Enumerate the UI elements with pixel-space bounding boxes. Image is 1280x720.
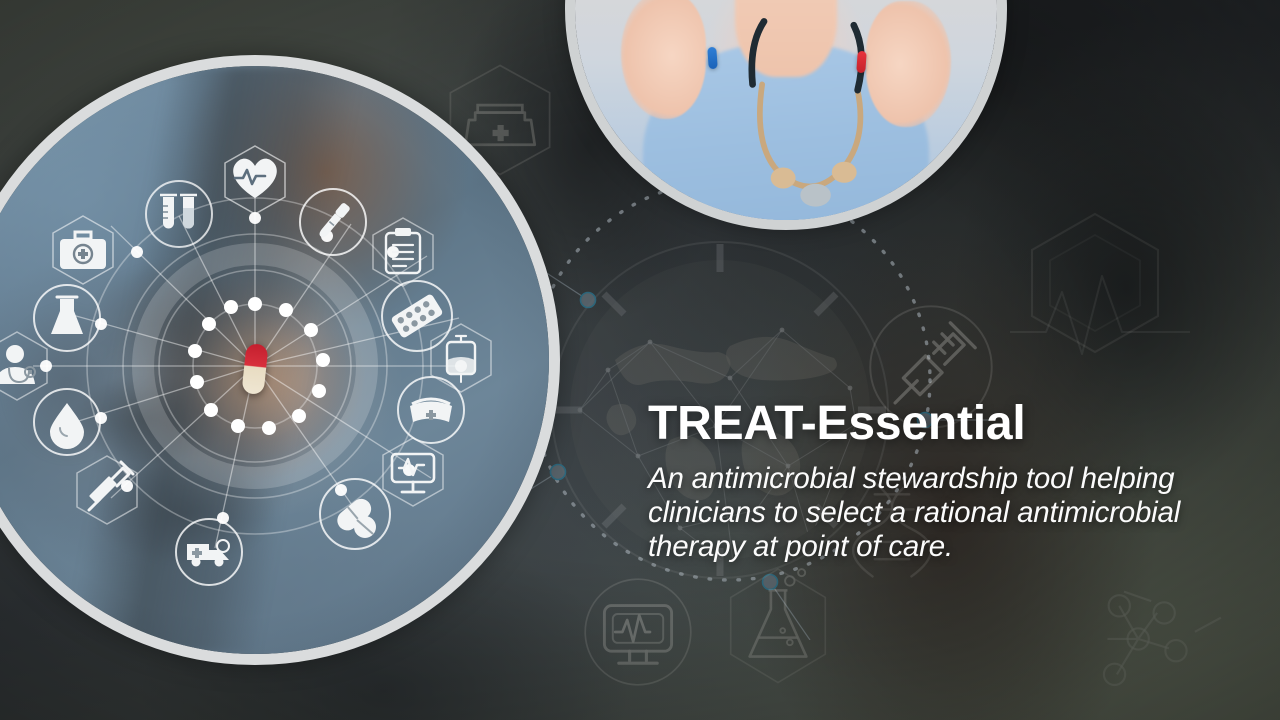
nurse-right-hand — [866, 1, 950, 128]
nurse-left-hand — [621, 0, 705, 119]
blue-capsule — [707, 47, 718, 70]
page-subtitle: An antimicrobial stewardship tool helpin… — [648, 462, 1236, 564]
text-block: TREAT-Essential An antimicrobial steward… — [648, 398, 1248, 564]
hero-image-circle-right — [565, 0, 1007, 230]
hero-image-circle-left — [0, 55, 560, 665]
page-title: TREAT-Essential — [648, 398, 1248, 450]
slide-canvas: TREAT-Essential An antimicrobial steward… — [0, 0, 1280, 720]
circle-shading — [0, 66, 549, 654]
